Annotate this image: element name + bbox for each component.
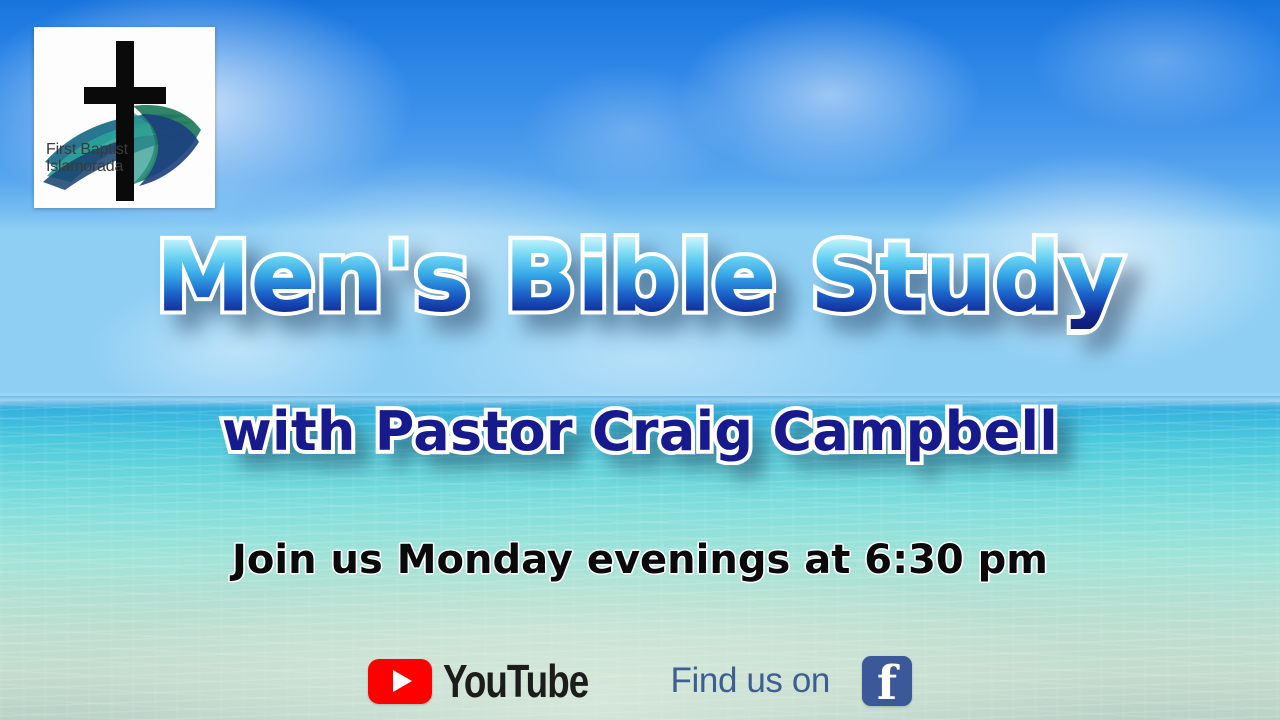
page-title-text: Men's Bible Study: [156, 228, 1124, 329]
church-logo: First Baptist Islamorada: [34, 27, 215, 208]
cross-icon: [116, 41, 134, 201]
facebook-icon[interactable]: f: [862, 656, 912, 706]
page-title: Men's Bible Study Men's Bible Study: [0, 228, 1280, 329]
page-subtitle: with Pastor Craig Campbell with Pastor C…: [0, 400, 1280, 463]
play-triangle-icon: [393, 670, 412, 692]
slide-canvas: First Baptist Islamorada Men's Bible Stu…: [0, 0, 1280, 720]
facebook-letter: f: [862, 656, 912, 706]
logo-church-name: First Baptist Islamorada: [46, 142, 166, 176]
cross-icon-crossbar: [84, 87, 166, 104]
schedule-text: Join us Monday evenings at 6:30 pm: [0, 537, 1280, 583]
youtube-play-icon[interactable]: [368, 659, 432, 704]
logo-name-line-2: Islamorada: [46, 159, 166, 175]
page-subtitle-text: with Pastor Craig Campbell: [222, 400, 1058, 463]
youtube-label: YouTube: [443, 658, 588, 704]
logo-name-line-1: First Baptist: [46, 142, 166, 158]
youtube-link[interactable]: YouTube: [368, 658, 625, 704]
find-us-on-label: Find us on: [671, 661, 830, 701]
social-bar: YouTube Find us on f: [0, 652, 1280, 710]
